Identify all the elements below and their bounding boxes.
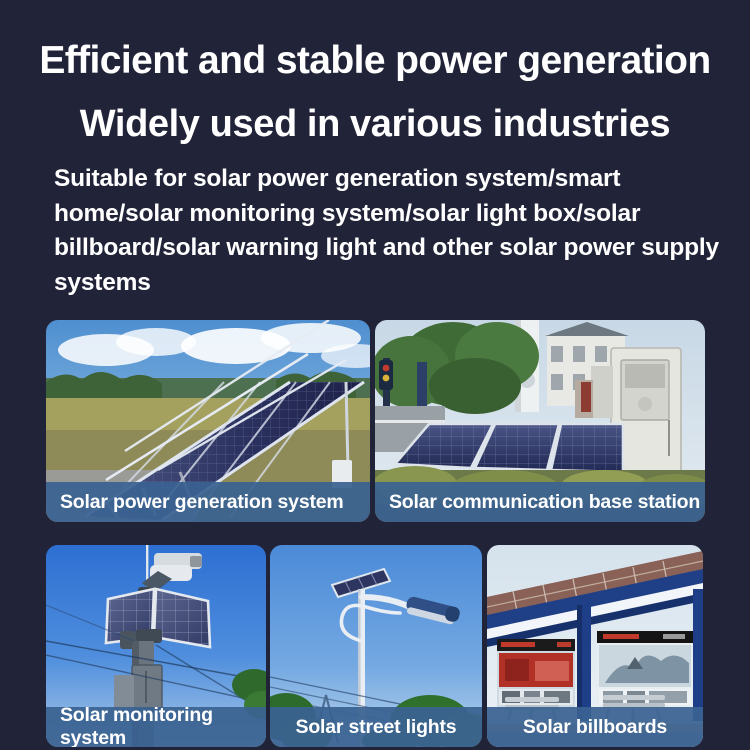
caption-solar-monitoring-system: Solar monitoring system bbox=[46, 707, 266, 747]
headline-primary: Efficient and stable power generation bbox=[0, 38, 750, 84]
headline-secondary: Widely used in various industries bbox=[0, 101, 750, 147]
caption-solar-power-generation-system: Solar power generation system bbox=[46, 482, 370, 522]
caption-solar-billboards: Solar billboards bbox=[487, 707, 703, 747]
description-paragraph: Suitable for solar power generation syst… bbox=[54, 162, 726, 300]
gallery-card-solar-communication-base-station[interactable]: Solar communication base station bbox=[375, 320, 705, 522]
caption-solar-communication-base-station: Solar communication base station bbox=[375, 482, 705, 522]
gallery-card-solar-billboards[interactable]: Solar billboards bbox=[487, 545, 703, 747]
gallery-card-solar-street-lights[interactable]: Solar street lights bbox=[270, 545, 482, 747]
gallery-card-solar-monitoring-system[interactable]: Solar monitoring system bbox=[46, 545, 266, 747]
caption-solar-street-lights: Solar street lights bbox=[270, 707, 482, 747]
gallery-card-solar-power-generation-system[interactable]: Solar power generation system bbox=[46, 320, 370, 522]
promo-page: Efficient and stable power generation Wi… bbox=[0, 0, 750, 750]
